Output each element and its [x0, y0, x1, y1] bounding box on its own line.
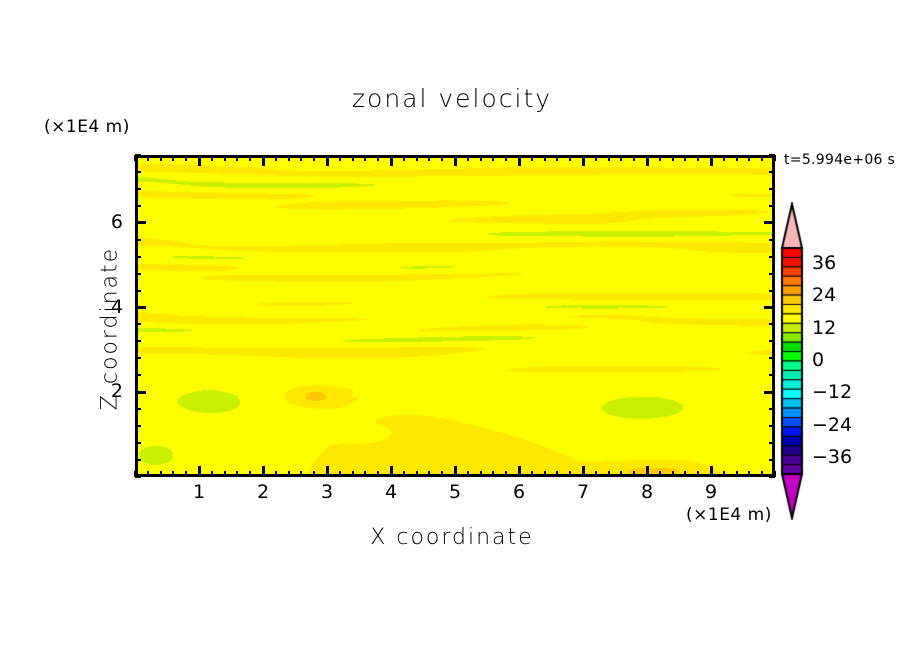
colorbar-tick-label: −24: [812, 414, 852, 436]
x-axis-title: X coordinate: [0, 525, 904, 550]
x-tick-label: 9: [691, 481, 731, 503]
colorbar-canvas: [780, 202, 804, 520]
colorbar-tick-label: −12: [812, 381, 852, 403]
timestamp-label: t=5.994e+06 s: [784, 152, 895, 168]
x-tick-label: 6: [499, 481, 539, 503]
contour-plot-panel: [135, 155, 775, 477]
colorbar-tick-label: 24: [812, 284, 836, 306]
y-axis-unit-label: (×1E4 m): [44, 117, 130, 137]
y-tick-label: 4: [95, 296, 123, 318]
x-tick-label: 4: [371, 481, 411, 503]
colorbar: [780, 202, 804, 520]
x-tick-label: 8: [627, 481, 667, 503]
x-tick-label: 1: [179, 481, 219, 503]
colorbar-tick-label: 0: [812, 349, 824, 371]
x-axis-unit-label: (×1E4 m): [686, 505, 772, 525]
x-tick-label: 7: [563, 481, 603, 503]
colorbar-tick-label: 12: [812, 317, 836, 339]
y-tick-label: 2: [95, 380, 123, 402]
contour-field-canvas: [135, 155, 775, 477]
y-tick-label: 6: [95, 211, 123, 233]
colorbar-tick-label: 36: [812, 252, 836, 274]
x-tick-label: 2: [243, 481, 283, 503]
x-tick-label: 3: [307, 481, 347, 503]
y-axis-title: Z coordinate: [98, 199, 123, 459]
x-tick-label: 5: [435, 481, 475, 503]
colorbar-tick-label: −36: [812, 446, 852, 468]
chart-title: zonal velocity: [0, 84, 904, 113]
